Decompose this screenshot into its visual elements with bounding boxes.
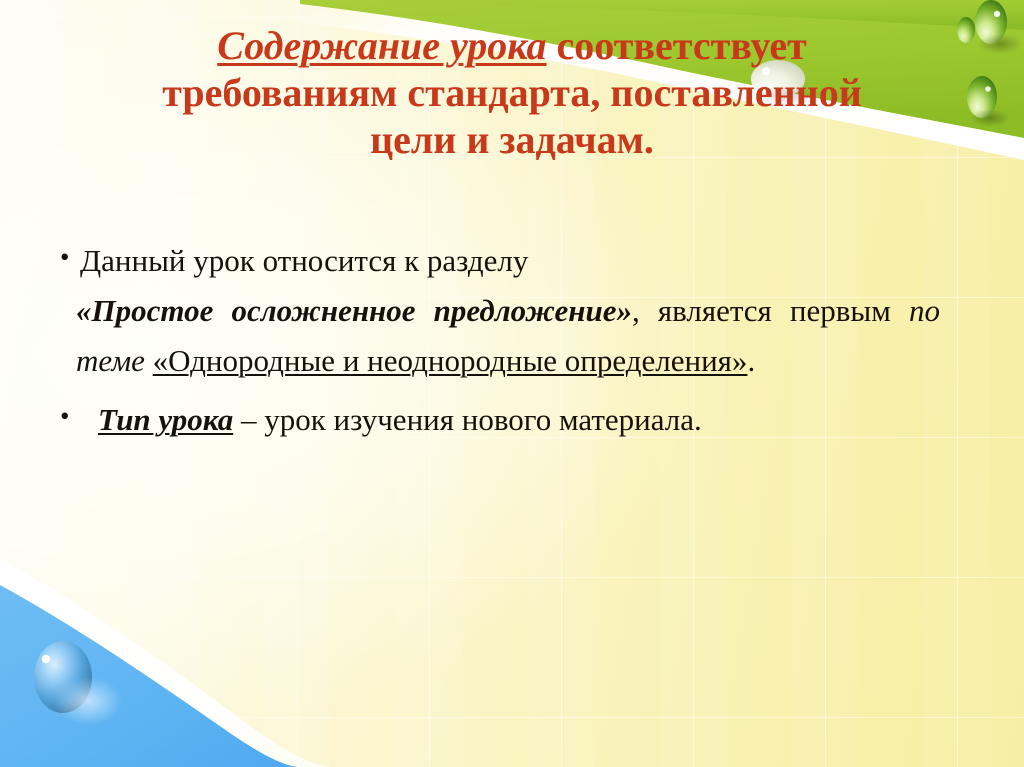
slide-body: • Данный урок относится к разделу «Прост… [40,236,940,445]
bullet-2-segment-5: . [747,343,755,378]
bullet-3-segment-0: Тип урока [98,402,233,437]
title-line-3: цели и задачам. [42,116,982,163]
title-line-2: требованиям стандарта, поставленной [42,69,982,116]
bullet-2-segment-0: «Простое осложненное предложение» [76,293,632,328]
title-rest: соответствует [547,23,807,68]
bullet-marker: • [40,236,80,280]
bullet-2-segment-1: , является первым [632,293,909,328]
list-item: • Тип урока – урок изучения нового матер… [40,395,940,445]
list-item-continuation: «Простое осложненное предложение», являе… [40,286,940,386]
bullet-text-1: Данный урок относится к разделу [80,236,940,286]
title-line-1: Содержание урока соответствует [42,22,982,69]
title-emphasis: Содержание урока [217,23,546,68]
bullet-text-3: Тип урока – урок изучения нового материа… [80,395,940,445]
slide-title: Содержание урока соответствует требовани… [42,22,982,164]
bullet-marker: • [40,395,80,439]
bullet-3-segment-1: – урок изучения нового материала. [233,402,702,437]
body-spacer [40,387,940,395]
slide-canvas: Содержание урока соответствует требовани… [0,0,1024,767]
bullet-2-segment-4: «Однородные и неоднородные определения» [153,343,748,378]
bullet-1-segment-0: Данный урок относится к разделу [80,243,528,278]
bullet-2-segment-3 [145,343,153,378]
list-item: • Данный урок относится к разделу [40,236,940,286]
